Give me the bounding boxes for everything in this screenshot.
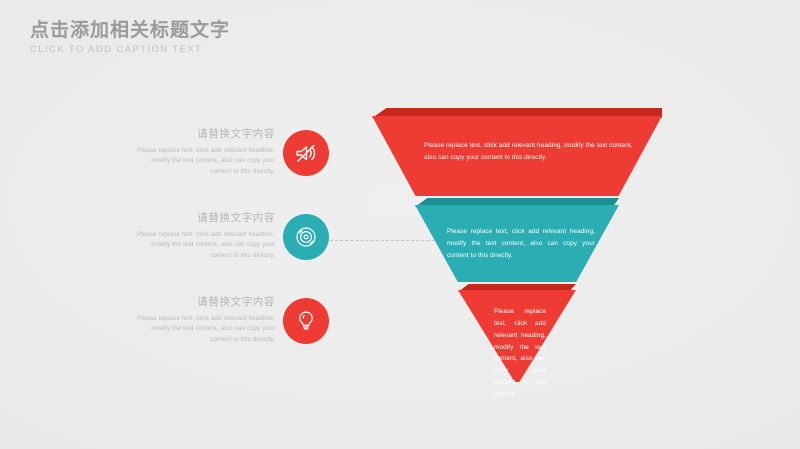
list-item[interactable]: 请替换文字内容 Please replace text, click add r… [130, 202, 330, 272]
megaphone-icon[interactable] [283, 130, 329, 176]
disc-icon[interactable] [283, 214, 329, 260]
funnel-band-middle[interactable]: Please replace text, click add relevant … [415, 198, 619, 282]
funnel-chart: Please replace text, click add relevant … [372, 108, 662, 388]
funnel-band-middle-text: Please replace text, click add relevant … [447, 226, 595, 262]
page-subtitle: CLICK TO ADD CAPTION TEXT [30, 44, 450, 55]
funnel-band-top[interactable]: Please replace text, click add relevant … [372, 108, 662, 196]
info-body: Please replace text, click add relevant … [130, 314, 275, 347]
info-body: Please replace text, click add relevant … [130, 230, 275, 263]
funnel-band-bottom-text: Please replace text, click add relevant … [494, 306, 546, 401]
lightbulb-icon[interactable] [283, 298, 329, 344]
funnel-band-bottom[interactable]: Please replace text, click add relevant … [458, 284, 576, 382]
page-title: 点击添加相关标题文字 [30, 20, 450, 42]
list-item[interactable]: 请替换文字内容 Please replace text, click add r… [130, 286, 330, 356]
info-heading: 请替换文字内容 [130, 128, 275, 142]
info-body: Please replace text, click add relevant … [130, 146, 275, 179]
info-text-block: 请替换文字内容 Please replace text, click add r… [130, 212, 283, 262]
info-text-block: 请替换文字内容 Please replace text, click add r… [130, 296, 283, 346]
info-heading: 请替换文字内容 [130, 212, 275, 226]
info-heading: 请替换文字内容 [130, 296, 275, 310]
funnel-band-top-text: Please replace text, click add relevant … [424, 140, 640, 164]
list-item[interactable]: 请替换文字内容 Please replace text, click add r… [130, 118, 330, 188]
info-text-block: 请替换文字内容 Please replace text, click add r… [130, 128, 283, 178]
slide-canvas: 点击添加相关标题文字 CLICK TO ADD CAPTION TEXT 请替换… [0, 0, 800, 449]
slide-header: 点击添加相关标题文字 CLICK TO ADD CAPTION TEXT [30, 20, 450, 55]
